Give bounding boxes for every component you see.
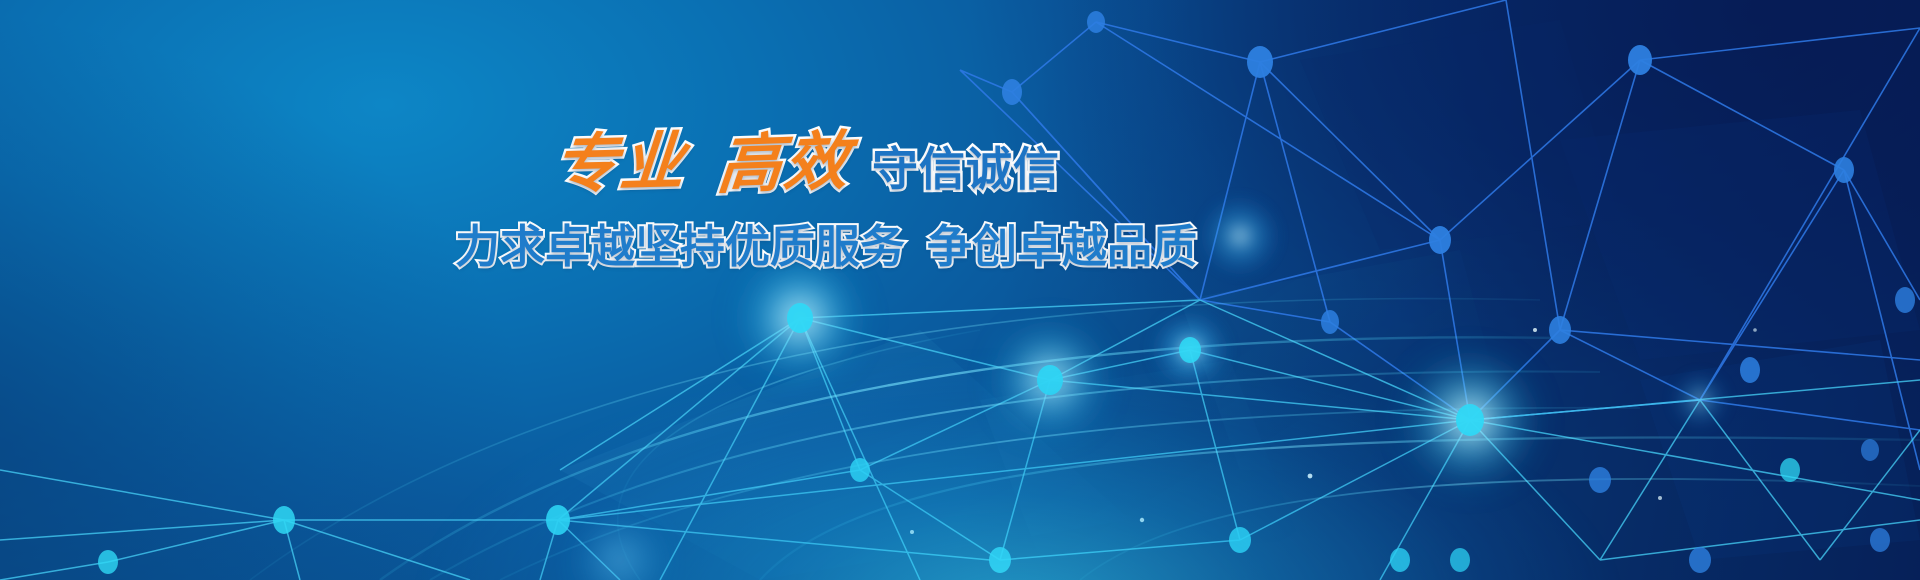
subline-part-1: 力求卓越坚持优质服务 bbox=[455, 220, 905, 273]
headline-brush-word-2: 高效 bbox=[711, 130, 857, 199]
background-bottom-glow bbox=[0, 0, 1920, 580]
headline: 专业 高效 守信诚信 bbox=[455, 132, 1155, 196]
subline: 力求卓越坚持优质服务争创卓越品质 bbox=[455, 210, 1155, 275]
headline-solid-word: 守信诚信 bbox=[872, 146, 1060, 192]
subline-part-2: 争创卓越品质 bbox=[927, 220, 1197, 273]
hero-banner: 专业 高效 守信诚信 力求卓越坚持优质服务争创卓越品质 bbox=[0, 0, 1920, 580]
banner-copy: 专业 高效 守信诚信 力求卓越坚持优质服务争创卓越品质 bbox=[455, 132, 1155, 275]
headline-brush-word-1: 专业 bbox=[547, 130, 692, 198]
